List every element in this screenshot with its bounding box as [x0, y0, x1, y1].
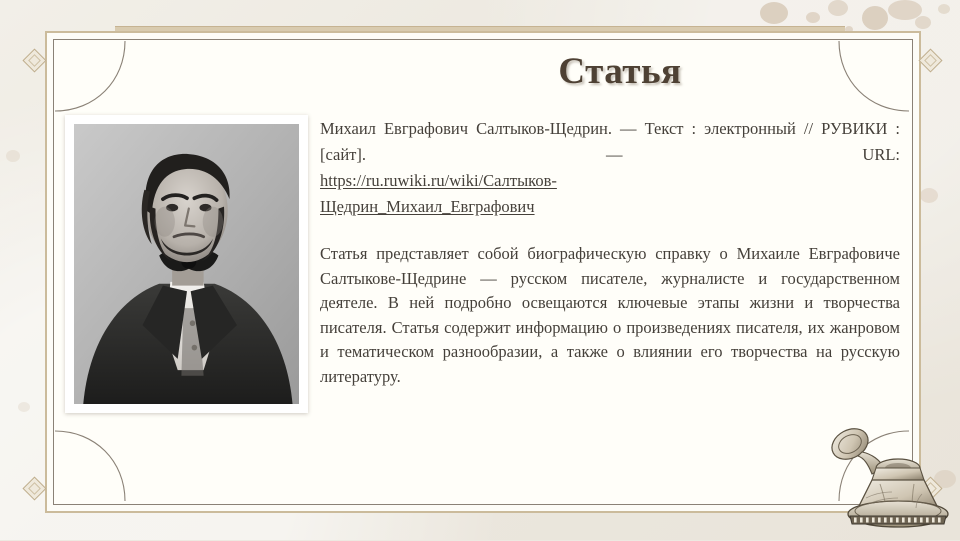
source-url-link-line1[interactable]: https://ru.ruwiki.ru/wiki/Салтыков- [320, 168, 900, 194]
portrait-photo-frame [65, 115, 308, 413]
stain-splatter [18, 402, 30, 412]
inkwell-illustration [822, 418, 960, 536]
stain-splatter [760, 2, 788, 24]
corner-diamond-ornament [22, 48, 46, 72]
stain-splatter [915, 16, 931, 29]
stain-splatter [828, 0, 848, 16]
stain-splatter [920, 188, 938, 203]
stain-splatter [6, 150, 20, 162]
stain-splatter [806, 12, 820, 23]
article-summary-paragraph: Статья представляет собой биографическую… [320, 242, 900, 389]
source-url-link-line2[interactable]: Щедрин_Михаил_Евграфович [320, 194, 900, 220]
corner-diamond-ornament [918, 48, 942, 72]
stain-splatter [862, 6, 888, 30]
stain-splatter [938, 4, 950, 14]
portrait-image [74, 124, 299, 404]
citation-block: Михаил Евграфович Салтыков-Щедрин. — Тек… [320, 116, 900, 220]
page-title: Статья [320, 50, 920, 93]
corner-diamond-ornament [22, 476, 46, 500]
text-column: Михаил Евграфович Салтыков-Щедрин. — Тек… [320, 116, 900, 389]
stain-splatter [888, 0, 922, 20]
citation-text: Михаил Евграфович Салтыков-Щедрин. — Тек… [320, 119, 900, 164]
slide-canvas: Статья Михаил Евграфович Салтыков-Щедрин… [0, 0, 960, 540]
